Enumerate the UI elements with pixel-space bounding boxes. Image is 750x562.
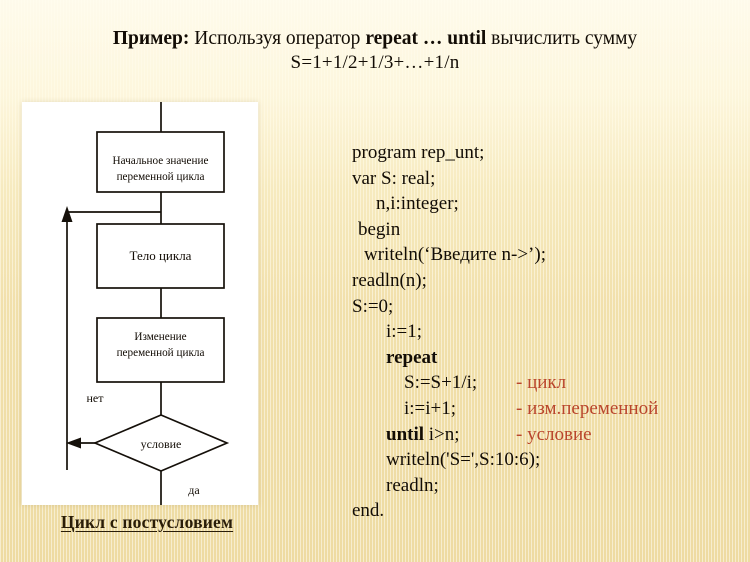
code-line: i:=i+1;- изм.переменной (352, 396, 748, 422)
heading-text-part1: Используя оператор (189, 28, 365, 49)
heading-text-part2: вычислить сумму (486, 28, 637, 49)
flow-box-init-line2: переменной цикла (117, 171, 205, 183)
flow-feedback-arrowhead-icon (62, 206, 73, 222)
code-line: S:=S+1/i;- цикл (352, 370, 748, 396)
code-text: var S: real; (352, 168, 435, 189)
code-keyword: until (386, 424, 424, 445)
code-line: repeat (352, 345, 748, 371)
code-listing: program rep_unt;var S: real;n,i:integer;… (352, 140, 748, 524)
code-annotation: - изм.переменной (516, 396, 658, 422)
code-line: readln(n); (352, 268, 748, 294)
flow-no-arrowhead-icon (66, 438, 81, 449)
code-line: readln; (352, 473, 748, 499)
code-text: n,i:integer; (376, 193, 459, 214)
slide-canvas: Пример: Используя оператор repeat … unti… (0, 0, 750, 562)
code-line: end. (352, 498, 748, 524)
code-text: S:=0; (352, 296, 393, 317)
code-line: writeln(‘Введите n->’); (352, 242, 748, 268)
code-text: writeln(‘Введите n->’); (364, 244, 546, 265)
code-line: program rep_unt; (352, 140, 748, 166)
flowchart-caption: Цикл с постусловием (22, 512, 272, 533)
code-text: begin (358, 219, 400, 240)
code-text: readln(n); (352, 270, 427, 291)
code-text: program rep_unt; (352, 142, 484, 163)
code-keyword: repeat (386, 347, 437, 368)
flow-decision-label: условие (141, 437, 182, 451)
code-line: begin (352, 217, 748, 243)
flow-label-no: нет (87, 391, 105, 405)
code-line: S:=0; (352, 294, 748, 320)
code-annotation: - цикл (516, 370, 566, 396)
code-line: writeln('S=',S:10:6); (352, 447, 748, 473)
code-text: end. (352, 500, 384, 521)
flowchart-panel: Начальное значение переменной цикла Тело… (22, 102, 258, 505)
heading-formula: S=1+1/2+1/3+…+1/n (0, 51, 750, 76)
heading-bold-prefix: Пример: (113, 28, 190, 49)
flow-label-yes: да (188, 483, 200, 497)
code-text: writeln('S=',S:10:6); (386, 449, 540, 470)
code-text: i>n; (424, 424, 460, 445)
code-line: var S: real; (352, 166, 748, 192)
code-text: i:=1; (386, 321, 422, 342)
heading-bold-keyword: repeat … until (365, 28, 486, 49)
code-line: until i>n;- условие (352, 422, 748, 448)
flow-box-update-line2: переменной цикла (117, 347, 205, 359)
code-annotation: - условие (516, 422, 592, 448)
code-text: i:=i+1; (404, 398, 456, 419)
slide-heading: Пример: Используя оператор repeat … unti… (0, 26, 750, 76)
code-text: readln; (386, 475, 439, 496)
code-line: i:=1; (352, 319, 748, 345)
code-text: S:=S+1/i; (404, 372, 477, 393)
code-line: n,i:integer; (352, 191, 748, 217)
flow-box-body-label: Тело цикла (130, 248, 192, 263)
heading-line-1: Пример: Используя оператор repeat … unti… (0, 26, 750, 51)
flow-box-init-line1: Начальное значение (113, 155, 209, 167)
flow-box-update-line1: Изменение (134, 331, 186, 343)
